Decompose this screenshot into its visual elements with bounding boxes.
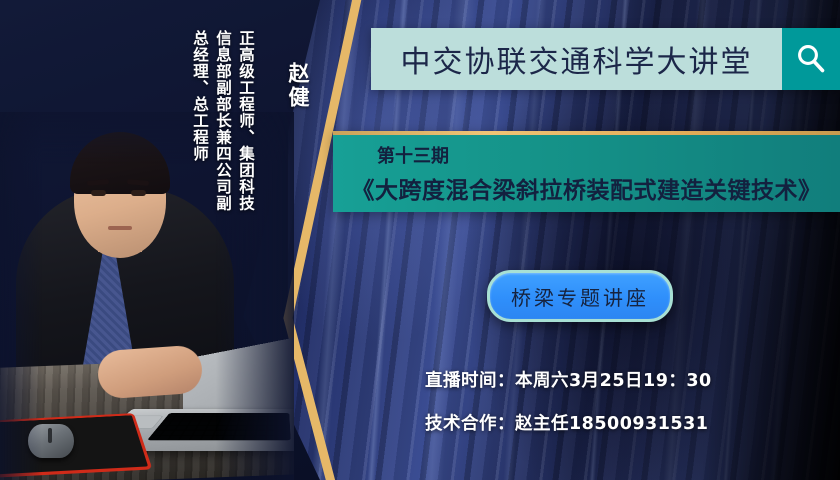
search-button[interactable] <box>782 28 840 90</box>
episode-number: 第十三期 <box>377 142 840 168</box>
speaker-title-column-3: 总经理、总工程师 <box>189 30 211 162</box>
topic-badge-label: 桥梁专题讲座 <box>511 282 649 311</box>
speaker-title-column-1: 正高级工程师、集团科技 <box>235 30 257 212</box>
page-title: 中交协联交通科学大讲堂 <box>401 37 753 81</box>
contact-info: 技术合作：赵主任18500931531 <box>425 410 708 435</box>
program-title-box: 中交协联交通科学大讲堂 <box>371 28 782 90</box>
speaker-title-column-2: 信息部副部长兼四公司副 <box>212 30 234 212</box>
topic-badge[interactable]: 桥梁专题讲座 <box>487 270 673 322</box>
speaker-name: 赵健 <box>283 62 313 110</box>
program-title-bar: 中交协联交通科学大讲堂 <box>371 28 840 90</box>
episode-title: 《大跨度混合梁斜拉桥装配式建造关键技术》 <box>333 171 840 205</box>
episode-banner: 第十三期 《大跨度混合梁斜拉桥装配式建造关键技术》 <box>333 131 840 212</box>
livestream-poster: 赵健 正高级工程师、集团科技 信息部副部长兼四公司副 总经理、总工程师 中交协联… <box>0 0 840 480</box>
broadcast-time: 直播时间：本周六3月25日19：30 <box>425 367 712 392</box>
search-icon <box>794 42 828 76</box>
